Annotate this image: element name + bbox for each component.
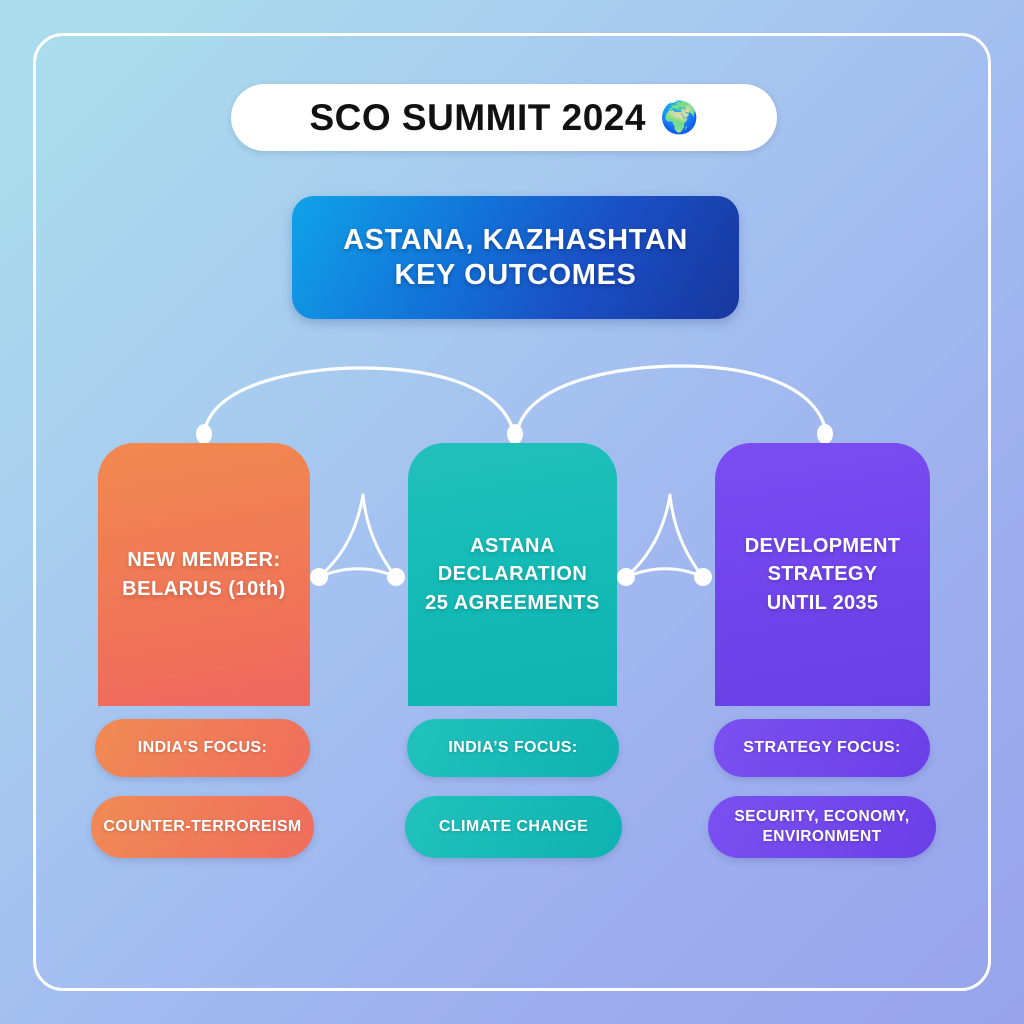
focus-detail-pill-astana-declaration[interactable]: CLIMATE CHANGE (405, 796, 622, 858)
subtitle-heading: KEY OUTCOMES (395, 259, 637, 292)
connector-arc-left (204, 368, 513, 432)
outcome-card-new-member[interactable]: NEW MEMBER: BELARUS (10th) (98, 443, 310, 706)
outcome-card-line: STRATEGY (768, 560, 878, 588)
focus-detail-line: CLIMATE CHANGE (439, 816, 588, 837)
outcome-card-line: DECLARATION (438, 560, 588, 588)
outcome-card-development-strategy[interactable]: DEVELOPMENT STRATEGY UNTIL 2035 (715, 443, 930, 706)
outcome-card-line: NEW MEMBER: (127, 546, 280, 574)
focus-label-pill-new-member[interactable]: INDIA'S FOCUS: (95, 719, 310, 777)
focus-label: INDIA’S FOCUS: (448, 737, 577, 758)
infographic-poster: SCO SUMMIT 2024 🌍 ASTANA, KAZHASHTAN KEY… (0, 0, 1024, 1024)
connector-node-card-2 (507, 424, 523, 444)
focus-detail-pill-new-member[interactable]: COUNTER-TERROREISM (91, 796, 314, 858)
page-title: SCO SUMMIT 2024 (309, 97, 645, 139)
focus-label-pill-development-strategy[interactable]: STRATEGY FOCUS: (714, 719, 930, 777)
outcome-card-line: UNTIL 2035 (767, 589, 879, 617)
connector-ornament-left (310, 495, 405, 586)
focus-detail-line: SECURITY, ECONOMY, (734, 807, 909, 827)
outcome-card-line: 25 AGREEMENTS (425, 589, 600, 617)
outcome-card-line: DEVELOPMENT (745, 532, 901, 560)
connector-node-card-1 (196, 424, 212, 444)
focus-detail-line: COUNTER-TERROREISM (103, 816, 301, 837)
poster-title-pill: SCO SUMMIT 2024 🌍 (231, 84, 777, 151)
outcome-card-line: ASTANA (470, 532, 555, 560)
focus-label: INDIA'S FOCUS: (138, 737, 267, 758)
focus-detail-pill-development-strategy[interactable]: SECURITY, ECONOMY, ENVIRONMENT (708, 796, 936, 858)
connector-node-card-3 (817, 424, 833, 444)
subtitle-banner: ASTANA, KAZHASHTAN KEY OUTCOMES (292, 196, 739, 319)
subtitle-location: ASTANA, KAZHASHTAN (343, 224, 688, 257)
outcome-card-astana-declaration[interactable]: ASTANA DECLARATION 25 AGREEMENTS (408, 443, 617, 706)
outcome-card-line: BELARUS (10th) (122, 575, 286, 603)
focus-detail-line: ENVIRONMENT (763, 827, 882, 847)
focus-label-pill-astana-declaration[interactable]: INDIA’S FOCUS: (407, 719, 619, 777)
connector-arc-right (517, 366, 826, 432)
focus-label: STRATEGY FOCUS: (743, 737, 900, 758)
globe-europe-africa-icon: 🌍 (660, 102, 699, 133)
connector-ornament-right (617, 495, 712, 586)
